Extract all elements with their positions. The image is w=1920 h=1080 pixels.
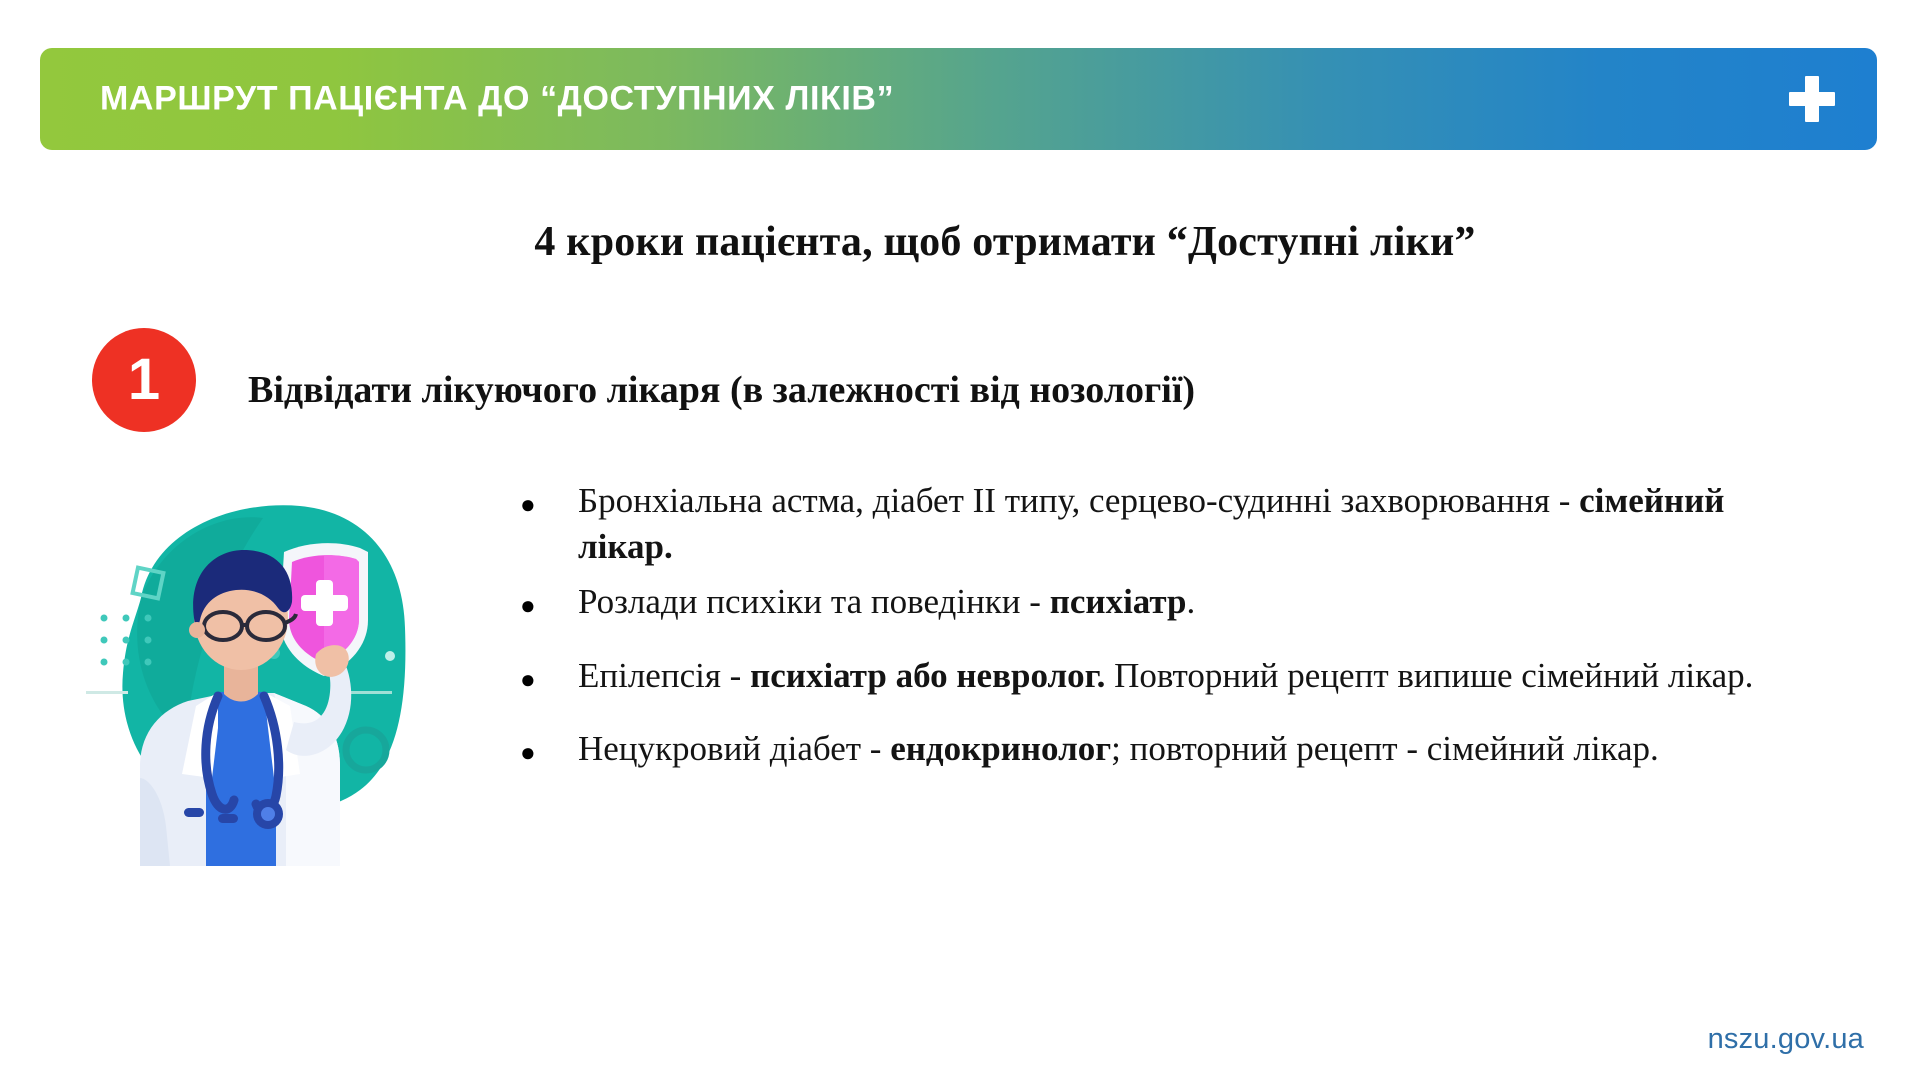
bullet-marker-icon: ● xyxy=(520,653,578,693)
bullet-text: Епілепсія - психіатр або невролог. Повто… xyxy=(578,653,1820,699)
step-number-badge: 1 xyxy=(92,328,196,432)
step-title: Відвідати лікуючого лікаря (в залежності… xyxy=(248,368,1195,412)
footer-url: nszu.gov.ua xyxy=(1708,1023,1864,1056)
header-bar: МАРШРУТ ПАЦІЄНТА ДО “ДОСТУПНИХ ЛІКІВ” xyxy=(40,48,1877,150)
bullet-marker-icon: ● xyxy=(520,726,578,766)
list-item: ● Нецукровий діабет - ендокринолог; повт… xyxy=(520,726,1820,772)
decor-line xyxy=(86,691,128,694)
bullet-marker-icon: ● xyxy=(520,478,578,518)
plus-cross-icon xyxy=(1789,76,1835,122)
bullet-list: ● Бронхіальна астма, діабет ІІ типу, сер… xyxy=(520,478,1820,772)
decor-line xyxy=(350,691,392,694)
coat-button xyxy=(184,808,204,817)
list-item: ● Епілепсія - психіатр або невролог. Пов… xyxy=(520,653,1820,699)
coat-button xyxy=(218,814,238,823)
stethoscope-diaphragm xyxy=(261,807,275,821)
list-item: ● Розлади психіки та поведінки - психіат… xyxy=(520,579,1820,625)
main-heading: 4 кроки пацієнта, щоб отримати “Доступні… xyxy=(0,218,1920,266)
decor-dot xyxy=(385,651,395,661)
list-item: ● Бронхіальна астма, діабет ІІ типу, сер… xyxy=(520,478,1820,569)
bullet-text: Бронхіальна астма, діабет ІІ типу, серце… xyxy=(578,478,1820,569)
bullet-marker-icon: ● xyxy=(520,579,578,619)
bullet-text: Нецукровий діабет - ендокринолог; повтор… xyxy=(578,726,1820,772)
page-title: МАРШРУТ ПАЦІЄНТА ДО “ДОСТУПНИХ ЛІКІВ” xyxy=(100,80,894,119)
ear xyxy=(189,622,205,638)
doctor-holding-shield-illustration xyxy=(78,478,418,868)
bullet-text: Розлади психіки та поведінки - психіатр. xyxy=(578,579,1820,625)
